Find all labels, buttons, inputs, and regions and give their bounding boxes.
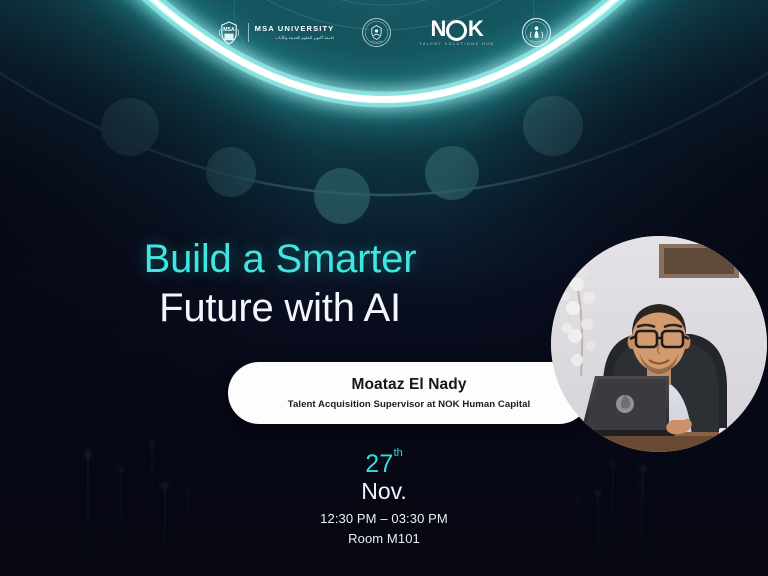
event-day: 27th xyxy=(0,452,768,477)
event-date-block: 27th Nov. 12:30 PM – 03:30 PM Room M101 xyxy=(0,452,768,546)
event-location: Room M101 xyxy=(0,531,768,546)
event-poster: MSA MSA UNIVERSITY جامعة أكتوبر للعلوم ا… xyxy=(0,0,768,576)
event-time: 12:30 PM – 03:30 PM xyxy=(0,511,768,526)
faculty-seal-icon xyxy=(521,17,552,48)
event-day-number: 27 xyxy=(365,450,393,478)
speaker-photo xyxy=(551,236,767,452)
speaker-portrait-image xyxy=(551,236,767,452)
logo-msa-university: MSA MSA UNIVERSITY جامعة أكتوبر للعلوم ا… xyxy=(216,20,335,46)
logo-nok: N K TALENT SOLUTIONS HUB xyxy=(419,19,494,46)
headline-line-1: Build a Smarter xyxy=(0,238,560,280)
poster-headline: Build a Smarter Future with AI xyxy=(0,238,560,330)
logo-divider xyxy=(248,23,249,42)
speaker-card: Moataz El Nady Talent Acquisition Superv… xyxy=(228,362,590,424)
partner-logo-strip: MSA MSA UNIVERSITY جامعة أكتوبر للعلوم ا… xyxy=(0,17,768,48)
headline-line-2: Future with AI xyxy=(0,286,560,330)
nok-wordmark: N K xyxy=(430,19,483,40)
nok-tagline: TALENT SOLUTIONS HUB xyxy=(419,42,494,46)
speaker-name: Moataz El Nady xyxy=(351,376,466,394)
nok-letter-k: K xyxy=(468,19,483,39)
event-day-suffix: th xyxy=(394,447,403,459)
svg-text:MSA: MSA xyxy=(223,27,235,33)
nok-letter-o xyxy=(446,20,467,41)
event-month: Nov. xyxy=(0,479,768,504)
msa-university-name: MSA UNIVERSITY xyxy=(255,25,335,33)
msa-university-arabic: جامعة أكتوبر للعلوم الحديثة والآداب xyxy=(255,36,335,40)
msa-crest-icon: MSA xyxy=(216,20,242,46)
speaker-role: Talent Acquisition Supervisor at NOK Hum… xyxy=(288,399,530,410)
university-seal-icon xyxy=(361,17,392,48)
nok-letter-n: N xyxy=(430,19,445,39)
